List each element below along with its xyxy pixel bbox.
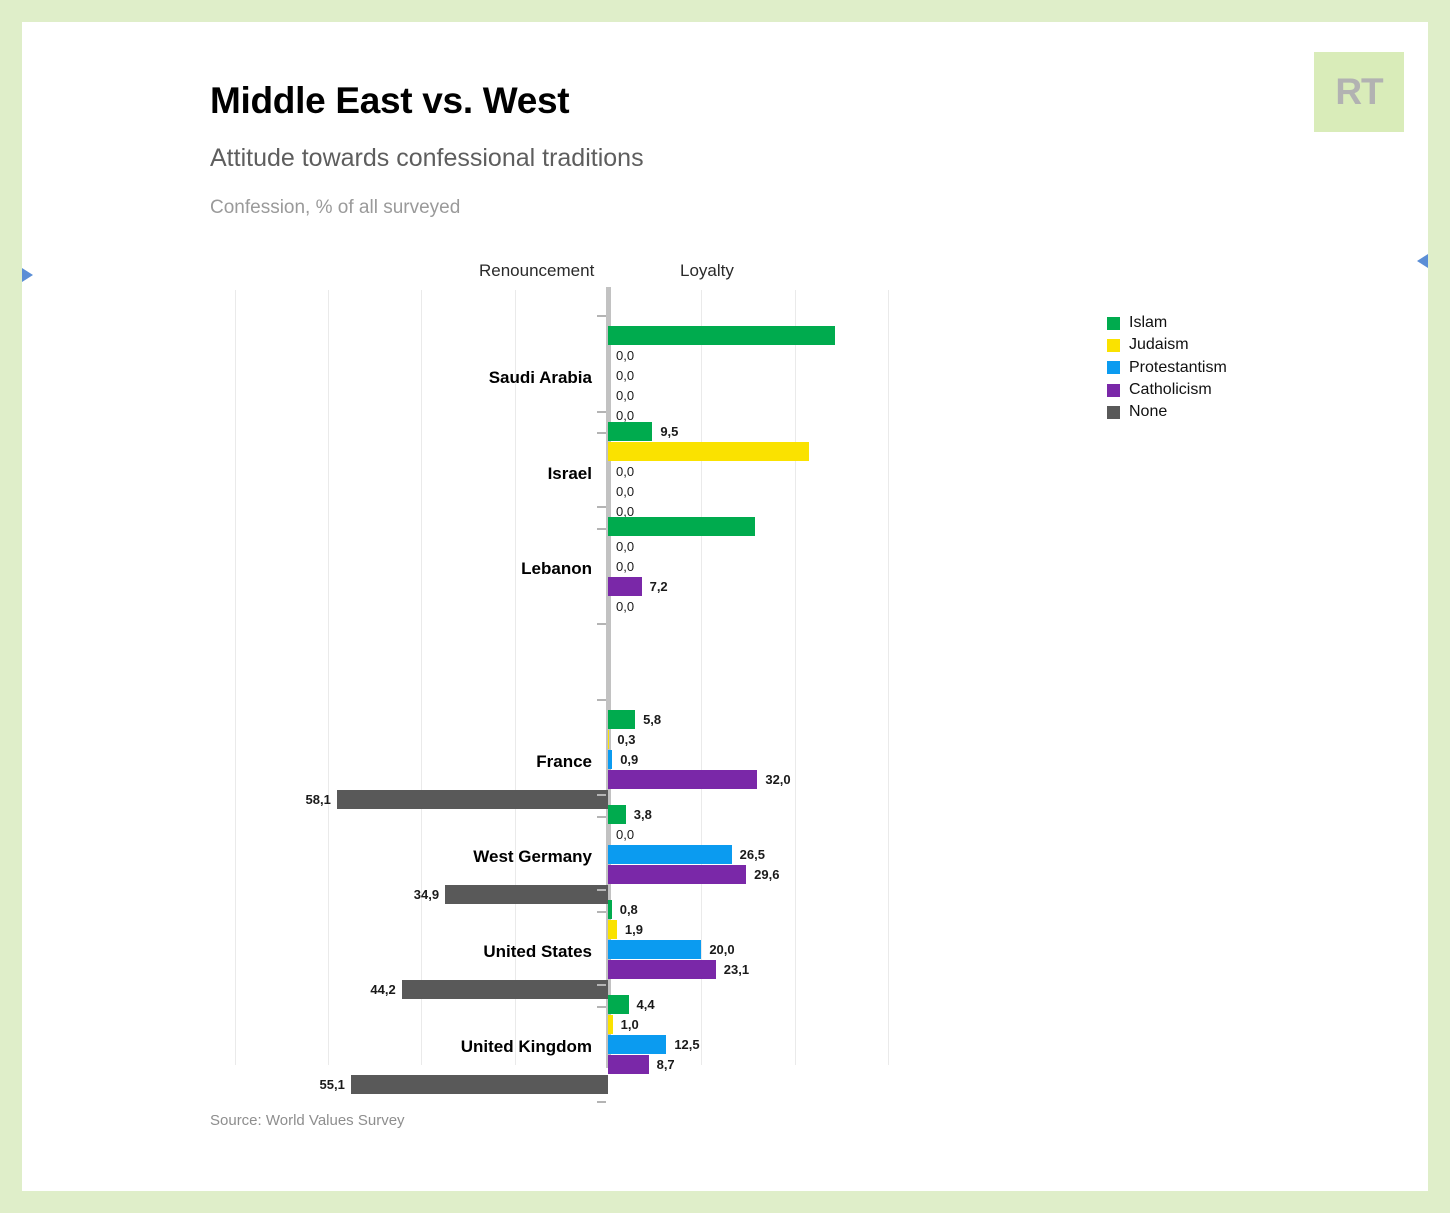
legend-swatch-icon bbox=[1107, 361, 1120, 374]
group-tick bbox=[597, 528, 606, 530]
group-tick bbox=[597, 506, 606, 508]
bar-none bbox=[337, 790, 608, 809]
bar-value-label: 0,0 bbox=[616, 557, 634, 576]
legend-item[interactable]: Judaism bbox=[1107, 334, 1227, 356]
bar-value-label: 0,0 bbox=[616, 825, 634, 844]
legend-label: Protestantism bbox=[1129, 359, 1227, 377]
bar-value-label: 29,6 bbox=[754, 865, 779, 884]
group-tick bbox=[597, 623, 606, 625]
bar-value-label: 0,0 bbox=[616, 366, 634, 385]
bar-value-label: 12,5 bbox=[674, 1035, 699, 1054]
category-label: Saudi Arabia bbox=[489, 368, 592, 388]
legend-label: Judaism bbox=[1129, 336, 1189, 354]
bar-value-label: 0,0 bbox=[616, 537, 634, 556]
page-root: Middle East vs. West Attitude towards co… bbox=[0, 0, 1450, 1213]
bar-value-label: 0,0 bbox=[616, 386, 634, 405]
bar-judaism bbox=[608, 920, 617, 939]
bar-judaism bbox=[608, 1015, 613, 1034]
bar-value-label: 20,0 bbox=[709, 940, 734, 959]
category-label: France bbox=[536, 752, 592, 772]
group-tick bbox=[597, 889, 606, 891]
source-note: Source: World Values Survey bbox=[210, 1112, 405, 1129]
legend-swatch-icon bbox=[1107, 317, 1120, 330]
legend-item[interactable]: None bbox=[1107, 401, 1227, 423]
bar-value-label: 0,3 bbox=[617, 730, 635, 749]
bar-protestantism bbox=[608, 940, 701, 959]
legend-item[interactable]: Catholicism bbox=[1107, 379, 1227, 401]
bar-value-label: 34,9 bbox=[401, 885, 439, 904]
legend-swatch-icon bbox=[1107, 384, 1120, 397]
legend-swatch-icon bbox=[1107, 339, 1120, 352]
bar-catholicism bbox=[608, 1055, 649, 1074]
bar-value-label: 58,1 bbox=[293, 790, 331, 809]
bar-value-label: 55,1 bbox=[307, 1075, 345, 1094]
bar-value-label: 0,0 bbox=[616, 482, 634, 501]
bar-catholicism bbox=[608, 865, 746, 884]
legend-label: Catholicism bbox=[1129, 381, 1212, 399]
bar-islam bbox=[608, 900, 612, 919]
bar-value-label: 23,1 bbox=[724, 960, 749, 979]
bar-catholicism bbox=[608, 770, 757, 789]
group-tick bbox=[597, 315, 606, 317]
category-label: United States bbox=[483, 942, 592, 962]
category-label: Israel bbox=[548, 464, 592, 484]
chart-card: Middle East vs. West Attitude towards co… bbox=[22, 22, 1428, 1191]
rt-logo: RT bbox=[1314, 52, 1404, 132]
bar-protestantism bbox=[608, 845, 732, 864]
bar-value-label: 7,2 bbox=[650, 577, 668, 596]
bar-islam bbox=[608, 995, 629, 1014]
bar-catholicism bbox=[608, 960, 716, 979]
bar-islam bbox=[608, 805, 626, 824]
gridline bbox=[421, 290, 422, 1065]
bar-value-label: 1,0 bbox=[621, 1015, 639, 1034]
bar-protestantism bbox=[608, 1035, 666, 1054]
category-label: West Germany bbox=[473, 847, 592, 867]
bar-judaism bbox=[608, 730, 609, 749]
legend-item[interactable]: Islam bbox=[1107, 312, 1227, 334]
gridline bbox=[795, 290, 796, 1065]
chart-legend: IslamJudaismProtestantismCatholicismNone bbox=[1107, 312, 1227, 423]
page-title: Middle East vs. West bbox=[210, 80, 569, 122]
bar-value-label: 5,8 bbox=[643, 710, 661, 729]
units-caption: Confession, % of all surveyed bbox=[210, 197, 460, 219]
legend-swatch-icon bbox=[1107, 406, 1120, 419]
bar-value-label: 3,8 bbox=[634, 805, 652, 824]
bar-value-label: 26,5 bbox=[740, 845, 765, 864]
bar-value-label: 0,8 bbox=[620, 900, 638, 919]
bar-none bbox=[445, 885, 608, 904]
bar-value-label: 9,5 bbox=[660, 422, 678, 441]
category-label: Lebanon bbox=[521, 559, 592, 579]
group-tick bbox=[597, 984, 606, 986]
bar-value-label: 8,7 bbox=[657, 1055, 675, 1074]
renouncement-label: Renouncement bbox=[479, 261, 594, 281]
bar-islam bbox=[608, 710, 635, 729]
group-tick bbox=[597, 699, 606, 701]
bar-value-label: 1,9 bbox=[625, 920, 643, 939]
bar-islam bbox=[608, 326, 835, 345]
bar-value-label: 0,0 bbox=[616, 597, 634, 616]
bar-none bbox=[351, 1075, 608, 1094]
bar-protestantism bbox=[608, 750, 612, 769]
rt-logo-text: RT bbox=[1314, 52, 1404, 132]
bar-value-label: 32,0 bbox=[765, 770, 790, 789]
group-tick bbox=[597, 1101, 606, 1103]
group-tick bbox=[597, 911, 606, 913]
legend-label: None bbox=[1129, 403, 1167, 421]
gridline bbox=[235, 290, 236, 1065]
group-tick bbox=[597, 411, 606, 413]
bar-value-label: 0,9 bbox=[620, 750, 638, 769]
bar-none bbox=[402, 980, 608, 999]
bar-judaism bbox=[608, 442, 809, 461]
bar-catholicism bbox=[608, 577, 642, 596]
chart-plot-area: Saudi Arabia0,00,00,00,0Israel9,50,00,00… bbox=[212, 290, 1052, 1065]
gridline bbox=[328, 290, 329, 1065]
bar-value-label: 4,4 bbox=[637, 995, 655, 1014]
legend-item[interactable]: Protestantism bbox=[1107, 357, 1227, 379]
category-label: United Kingdom bbox=[461, 1037, 592, 1057]
legend-label: Islam bbox=[1129, 314, 1167, 332]
group-tick bbox=[597, 432, 606, 434]
page-subtitle: Attitude towards confessional traditions bbox=[210, 144, 644, 173]
group-tick bbox=[597, 1006, 606, 1008]
group-tick bbox=[597, 794, 606, 796]
gridline bbox=[701, 290, 702, 1065]
bar-value-label: 0,0 bbox=[616, 346, 634, 365]
gridline bbox=[888, 290, 889, 1065]
bar-islam bbox=[608, 517, 755, 536]
group-tick bbox=[597, 816, 606, 818]
direction-axis-header: Renouncement Loyalty bbox=[22, 254, 1428, 288]
bar-value-label: 44,2 bbox=[358, 980, 396, 999]
bar-value-label: 0,0 bbox=[616, 462, 634, 481]
loyalty-label: Loyalty bbox=[680, 261, 734, 281]
bar-islam bbox=[608, 422, 652, 441]
